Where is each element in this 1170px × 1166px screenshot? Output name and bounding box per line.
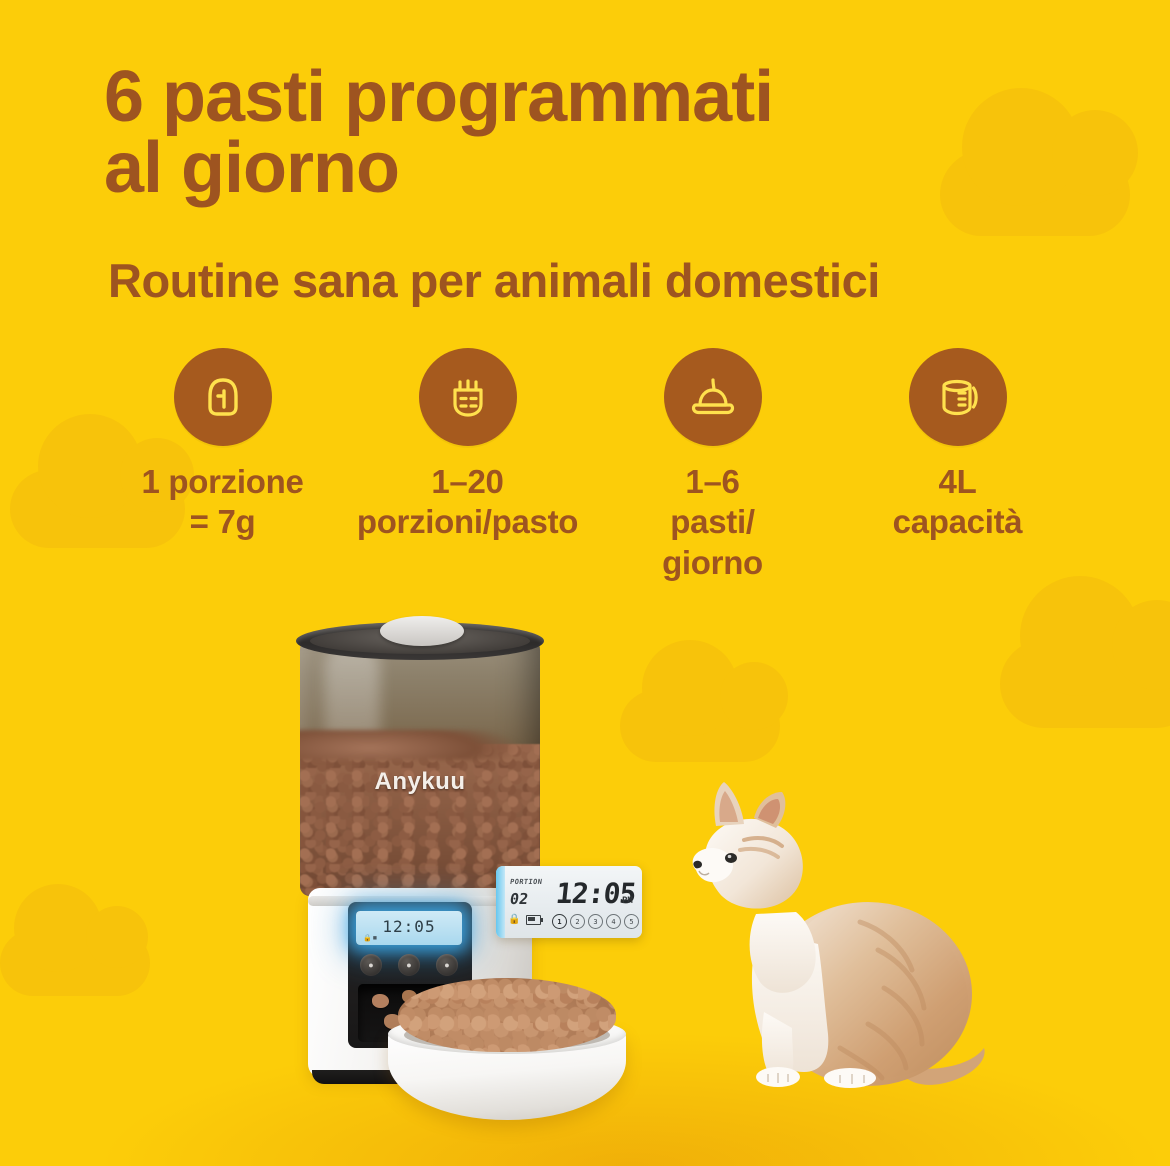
feature-badge <box>909 348 1007 446</box>
lcd-meal-slot: 5 <box>624 914 639 929</box>
feature-item-portion: 1 porzione = 7g <box>100 348 345 543</box>
feature-label: 1–6 pasti/ giorno <box>662 462 763 583</box>
cloud-decoration <box>620 690 780 762</box>
device-button-mode[interactable]: ● <box>398 954 420 976</box>
brand-logo: Anykuu <box>300 768 540 796</box>
subheadline: Routine sana per animali domestici <box>108 256 1118 305</box>
device-lcd-screen: 12:05 🔒■ <box>356 911 462 945</box>
kibble-surface <box>300 730 540 760</box>
feature-label: 1 porzione = 7g <box>141 462 303 543</box>
single-portion-icon <box>197 371 249 423</box>
feature-badge <box>174 348 272 446</box>
feeder-hopper: Anykuu <box>300 634 540 896</box>
lcd-meal-slot: 2 <box>570 914 585 929</box>
lock-icon: 🔒 <box>508 914 520 925</box>
lcd-status-icons: 🔒 <box>508 914 541 925</box>
lcd-meal-slots: 1 2 3 4 5 6 <box>552 914 642 929</box>
headline-line-1: 6 pasti programmati <box>104 57 773 137</box>
headline: 6 pasti programmati al giorno <box>104 62 1104 203</box>
feature-label: 4L capacità <box>893 462 1023 543</box>
feature-item-capacity: 4L capacità <box>835 348 1080 543</box>
portions-dispenser-icon <box>442 371 494 423</box>
meal-dome-icon <box>687 371 739 423</box>
lcd-meal-slot: 4 <box>606 914 621 929</box>
feature-label: 1–20 porzioni/pasto <box>357 462 578 543</box>
device-button-set[interactable]: ● <box>360 954 382 976</box>
cloud-decoration <box>1000 640 1170 728</box>
cat-photo <box>672 772 992 1102</box>
measuring-cup-icon <box>932 371 984 423</box>
lcd-callout-panel: PORTION 02 12:05 PM 🔒 1 2 3 4 5 6 <box>496 866 642 938</box>
feature-row: 1 porzione = 7g 1–20 porzioni/pasto <box>100 348 1080 583</box>
lcd-meal-slot: 1 <box>552 914 567 929</box>
lcd-meridiem: PM <box>622 896 633 906</box>
lcd-meal-slot: 3 <box>588 914 603 929</box>
device-button-group[interactable]: ● ● ● <box>360 954 458 976</box>
bowl-kibble <box>398 978 616 1052</box>
feature-item-meals-per-day: 1–6 pasti/ giorno <box>590 348 835 583</box>
feature-badge <box>419 348 517 446</box>
headline-line-2: al giorno <box>104 133 1104 204</box>
feature-badge <box>664 348 762 446</box>
device-button-feed[interactable]: ● <box>436 954 458 976</box>
battery-icon <box>526 915 541 925</box>
feeder-lid-knob <box>380 616 464 646</box>
device-lcd-mini-icons: 🔒■ <box>363 934 378 942</box>
lcd-portion-value: 02 <box>509 890 530 908</box>
lcd-portion-label: PORTION <box>509 878 542 886</box>
feature-item-portions-per-meal: 1–20 porzioni/pasto <box>345 348 590 543</box>
poster-canvas: 6 pasti programmati al giorno Routine sa… <box>0 0 1170 1166</box>
food-bowl <box>388 1006 626 1122</box>
